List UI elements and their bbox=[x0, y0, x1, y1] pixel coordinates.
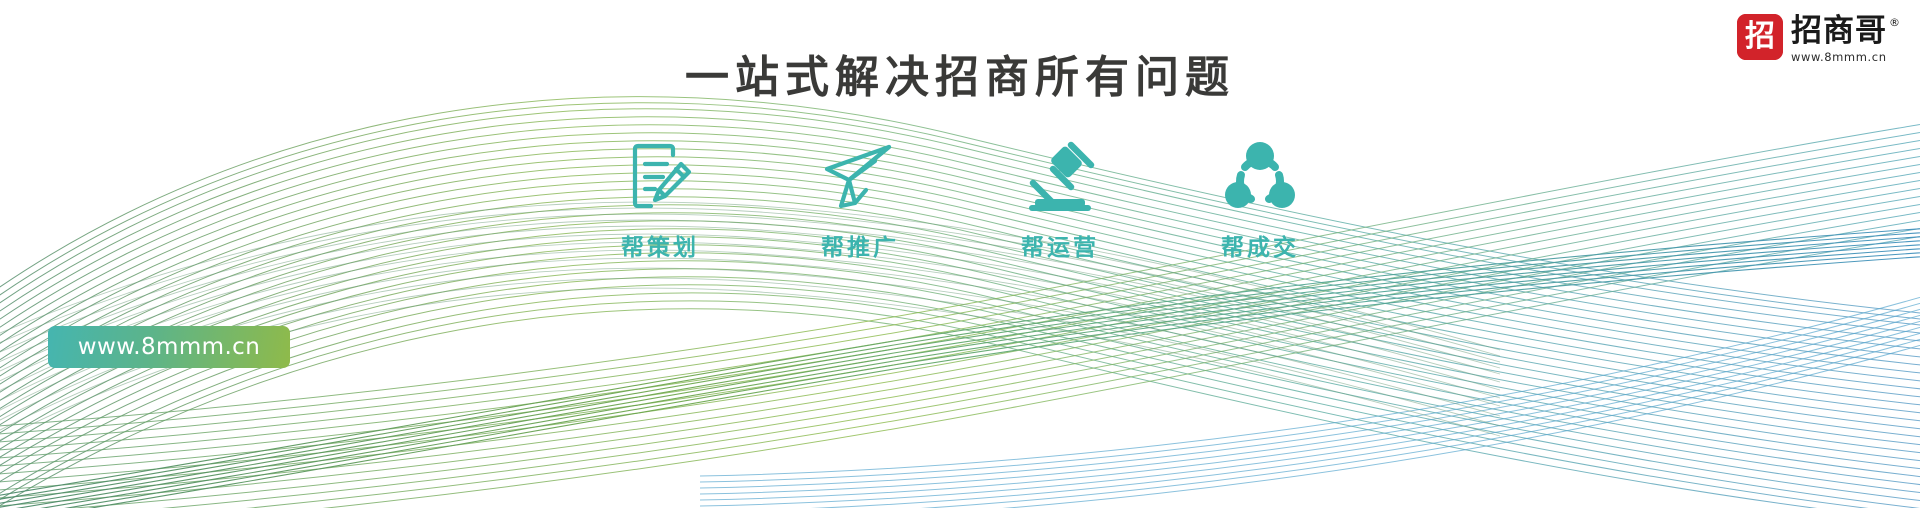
feature-list: 帮策划 帮推广 bbox=[0, 133, 1920, 260]
logo-wordmark: 招商哥 bbox=[1791, 15, 1887, 48]
feature-label: 帮运营 bbox=[1021, 237, 1099, 260]
website-url-badge[interactable]: www.8mmm.cn bbox=[48, 326, 290, 368]
logo-mark-char: 招 bbox=[1745, 22, 1775, 52]
feature-label: 帮策划 bbox=[621, 237, 699, 260]
logo-wordmark-row: 招商哥 ® bbox=[1791, 15, 1900, 48]
network-nodes-icon bbox=[1221, 133, 1299, 219]
feature-item-promotion[interactable]: 帮推广 bbox=[786, 133, 934, 260]
document-pencil-icon bbox=[621, 133, 699, 219]
feature-label: 帮成交 bbox=[1221, 237, 1299, 260]
feature-item-operations[interactable]: 帮运营 bbox=[986, 133, 1134, 260]
page-title: 一站式解决招商所有问题 bbox=[0, 52, 1920, 105]
paper-plane-icon bbox=[819, 133, 901, 219]
feature-item-planning[interactable]: 帮策划 bbox=[586, 133, 734, 260]
registered-trademark-icon: ® bbox=[1889, 17, 1900, 28]
gavel-icon bbox=[1019, 133, 1101, 219]
feature-item-closing[interactable]: 帮成交 bbox=[1186, 133, 1334, 260]
promo-banner: 招 招商哥 ® www.8mmm.cn 一站式解决招商所有问题 bbox=[0, 0, 1920, 508]
website-url-text: www.8mmm.cn bbox=[78, 336, 260, 359]
feature-label: 帮推广 bbox=[821, 237, 899, 260]
